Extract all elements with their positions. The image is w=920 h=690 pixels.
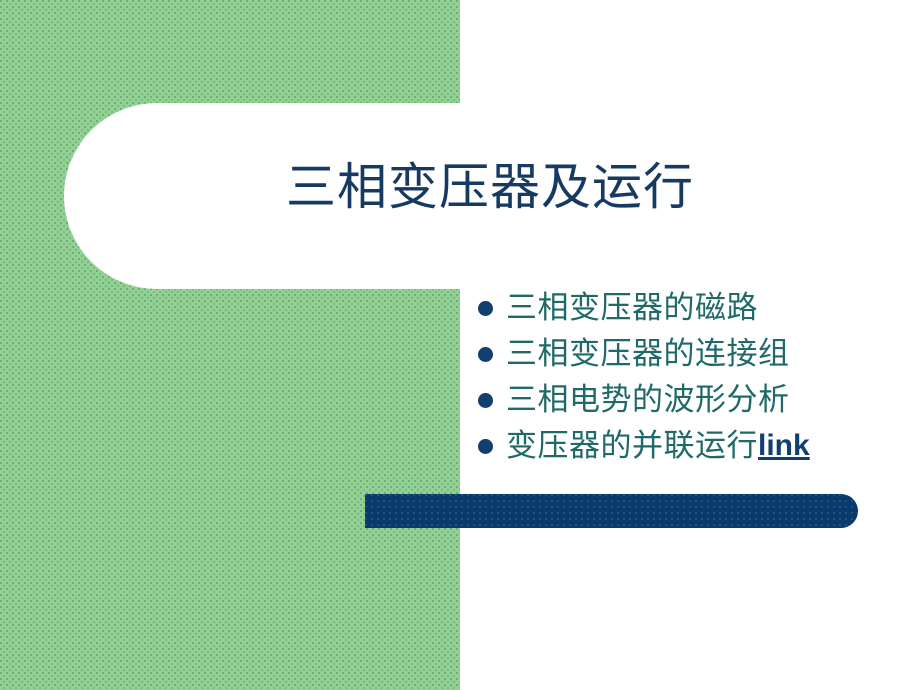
bullet-dot-icon — [478, 347, 493, 362]
bottom-accent-bar — [365, 494, 858, 528]
list-item[interactable]: 三相电势的波形分析 — [478, 384, 908, 415]
list-item[interactable]: 三相变压器的磁路 — [478, 292, 908, 323]
presentation-slide: 三相变压器及运行 三相变压器的磁路 三相变压器的连接组 三相电势的波形分析 变压… — [0, 0, 920, 690]
list-item[interactable]: 三相变压器的连接组 — [478, 338, 908, 369]
bullet-item-label: 三相变压器的磁路 — [506, 292, 758, 323]
bullet-list: 三相变压器的磁路 三相变压器的连接组 三相电势的波形分析 变压器的并联运行lin… — [478, 292, 908, 476]
bullet-dot-icon — [478, 393, 493, 408]
bullet-item-label: 三相变压器的连接组 — [506, 338, 790, 369]
hyperlink-link[interactable]: link — [758, 431, 810, 461]
bullet-dot-icon — [478, 301, 493, 316]
slide-title: 三相变压器及运行 — [180, 160, 800, 214]
bullet-dot-icon — [478, 439, 493, 454]
bullet-item-label: 三相电势的波形分析 — [506, 384, 790, 415]
bullet-item-label: 变压器的并联运行 — [506, 430, 758, 461]
list-item[interactable]: 变压器的并联运行link — [478, 430, 908, 461]
